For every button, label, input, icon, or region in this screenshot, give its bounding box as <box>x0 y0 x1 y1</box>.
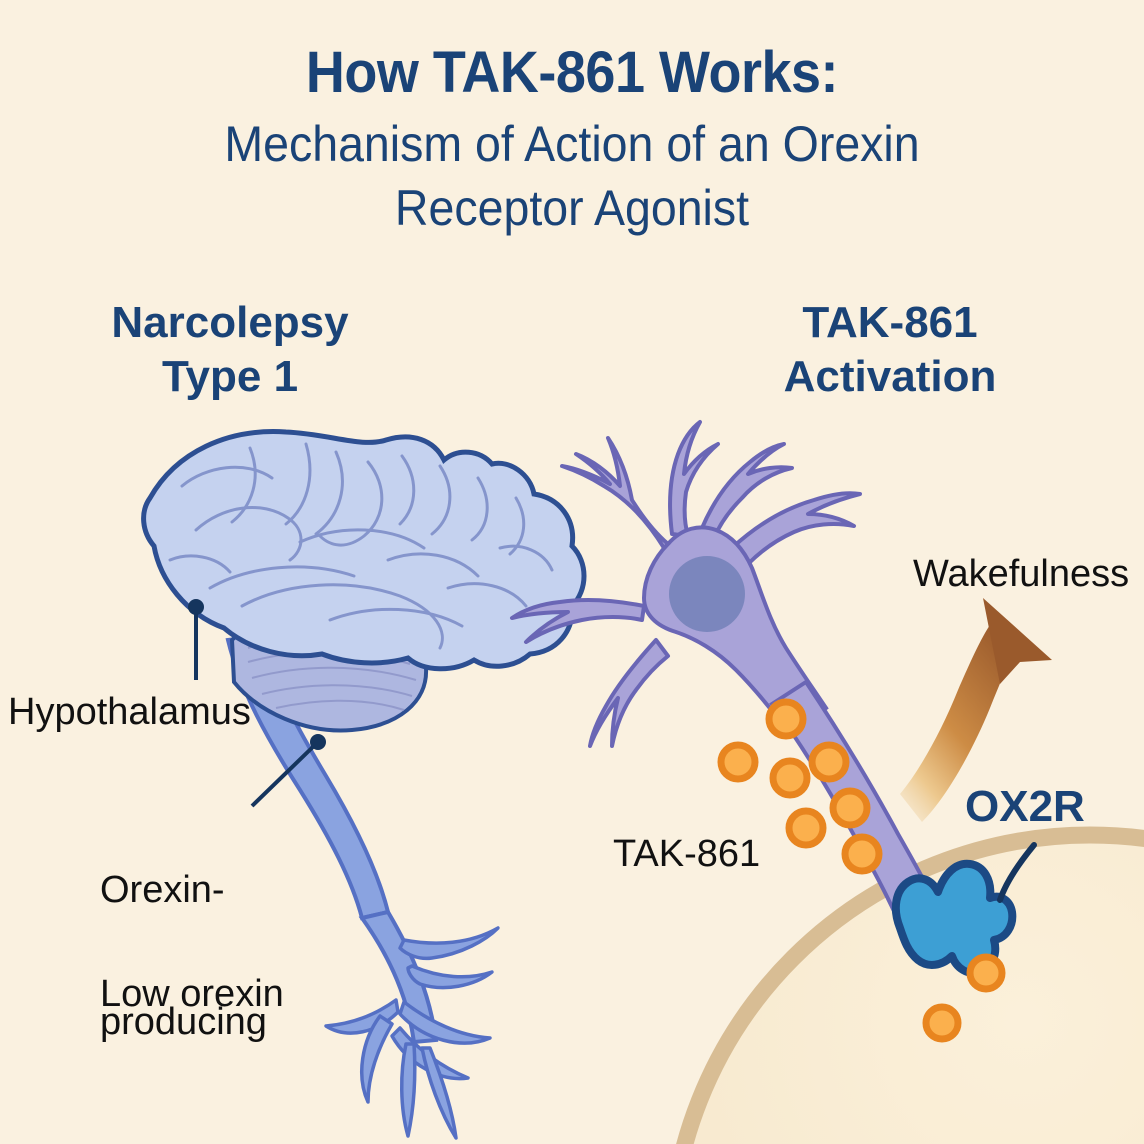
cerebrum <box>144 432 584 669</box>
molecule <box>773 761 807 795</box>
orexin-neuron-axon <box>326 912 498 1138</box>
label-ox2r: OX2R <box>965 785 1085 829</box>
molecule <box>769 702 803 736</box>
leader-dot-orexin-neuron <box>310 734 326 750</box>
molecule <box>812 745 846 779</box>
leader-dot-hypothalamus <box>188 599 204 615</box>
label-wakefulness: Wakefulness <box>913 552 1129 596</box>
label-low-orexin: Low orexin <box>100 972 284 1016</box>
label-orexin-neuron-line-1: Orexin- <box>100 868 267 912</box>
molecule <box>789 811 823 845</box>
molecule <box>721 745 755 779</box>
label-tak861: TAK-861 <box>613 832 760 876</box>
molecule <box>845 837 879 871</box>
neuron-nucleus <box>669 556 745 632</box>
molecule <box>926 1007 958 1039</box>
infographic-canvas: How TAK-861 Works: Mechanism of Action o… <box>0 0 1144 1144</box>
molecule <box>833 791 867 825</box>
label-orexin-neuron-line-3: neuron <box>100 1132 267 1144</box>
molecule <box>970 957 1002 989</box>
label-orexin-producing-neuron: Orexin- producing neuron <box>100 780 267 1144</box>
label-hypothalamus: Hypothalamus <box>8 690 251 734</box>
